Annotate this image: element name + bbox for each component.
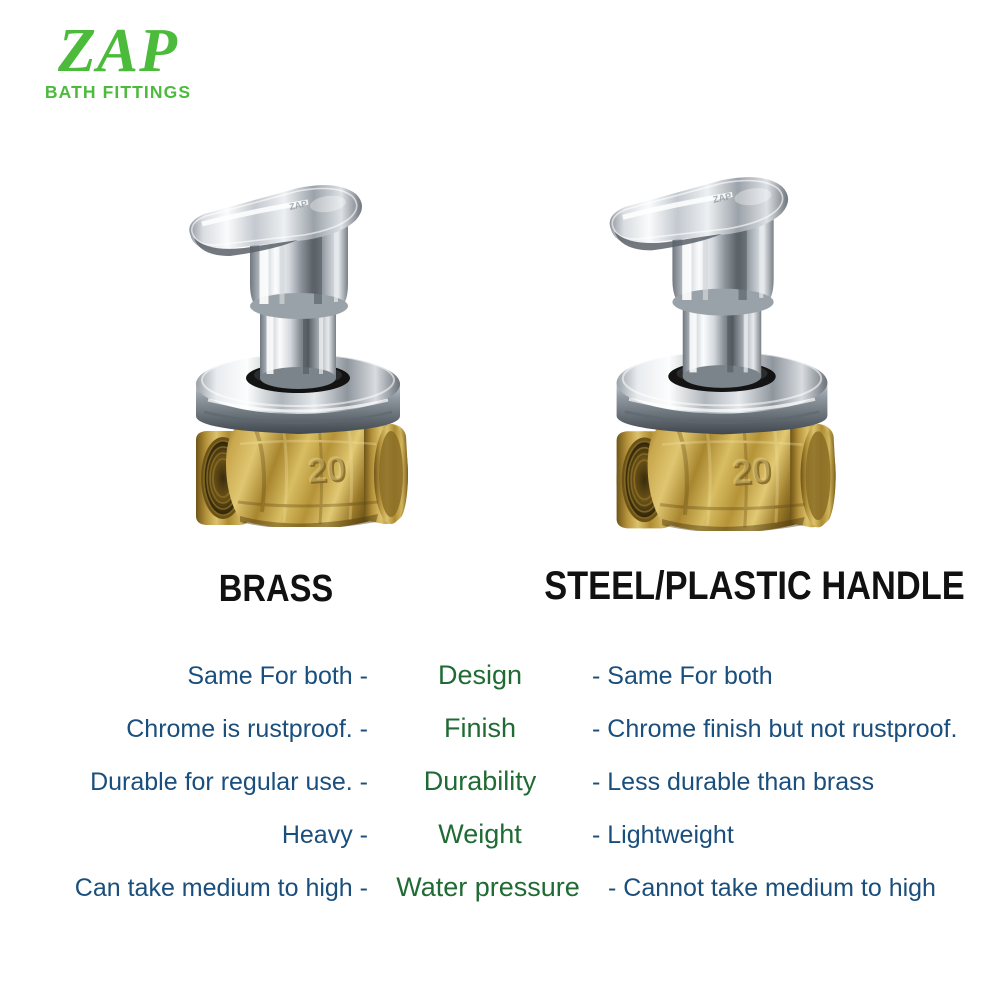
svg-text:20: 20	[306, 449, 346, 490]
brand-logo: ZAP BATH FITTINGS	[22, 18, 242, 118]
row-left-dash: -	[360, 768, 368, 796]
row-right-value: - Same For both	[592, 662, 1000, 691]
svg-text:20: 20	[730, 450, 772, 492]
row-label: Water pressure	[368, 872, 608, 903]
row-left-value: Chrome is rustproof. -	[0, 715, 368, 744]
row-left-value: Can take medium to high -	[0, 874, 368, 903]
comparison-row: Heavy - Weight - Lightweight	[0, 819, 1000, 872]
row-label: Finish	[368, 713, 592, 744]
product-image-brass: 20 20	[178, 172, 418, 527]
row-right-text: Cannot take medium to high	[623, 874, 936, 902]
row-right-value: - Cannot take medium to high	[608, 874, 1000, 903]
steel-plastic-valve-illustration: 20 20	[598, 163, 846, 531]
row-left-text: Chrome is rustproof.	[126, 715, 352, 743]
row-right-dash: -	[608, 874, 616, 902]
brass-valve-illustration: 20 20	[178, 172, 418, 527]
comparison-row: Chrome is rustproof. - Finish - Chrome f…	[0, 713, 1000, 766]
comparison-row: Durable for regular use. - Durability - …	[0, 766, 1000, 819]
row-right-text: Same For both	[607, 662, 772, 690]
row-right-value: - Less durable than brass	[592, 768, 1000, 797]
row-left-dash: -	[360, 874, 368, 902]
row-right-dash: -	[592, 821, 600, 849]
product-title-brass: BRASS	[121, 568, 431, 611]
row-left-dash: -	[360, 715, 368, 743]
row-left-text: Durable for regular use.	[90, 768, 353, 796]
row-right-value: - Chrome finish but not rustproof.	[592, 715, 1000, 744]
row-right-text: Chrome finish but not rustproof.	[607, 715, 957, 743]
row-left-text: Same For both	[187, 662, 352, 690]
row-left-value: Durable for regular use. -	[0, 768, 368, 797]
row-label: Weight	[368, 819, 592, 850]
comparison-row: Same For both - Design - Same For both	[0, 660, 1000, 713]
brand-tagline: BATH FITTINGS	[28, 82, 208, 103]
row-right-text: Less durable than brass	[607, 768, 874, 796]
row-left-text: Can take medium to high	[75, 874, 353, 902]
row-right-dash: -	[592, 715, 600, 743]
row-label: Durability	[368, 766, 592, 797]
row-left-value: Same For both -	[0, 662, 368, 691]
row-left-dash: -	[360, 662, 368, 690]
comparison-row: Can take medium to high - Water pressure…	[0, 872, 1000, 925]
product-title-steel-plastic: STEEL/PLASTIC HANDLE	[544, 564, 940, 609]
product-image-steel-plastic: 20 20	[598, 163, 846, 531]
row-right-value: - Lightweight	[592, 821, 1000, 850]
row-right-text: Lightweight	[607, 821, 733, 849]
row-left-dash: -	[360, 821, 368, 849]
row-right-dash: -	[592, 768, 600, 796]
brand-name: ZAP	[28, 18, 208, 84]
comparison-table: Same For both - Design - Same For both C…	[0, 660, 1000, 925]
row-left-text: Heavy	[282, 821, 353, 849]
row-right-dash: -	[592, 662, 600, 690]
row-label: Design	[368, 660, 592, 691]
row-left-value: Heavy -	[0, 821, 368, 850]
